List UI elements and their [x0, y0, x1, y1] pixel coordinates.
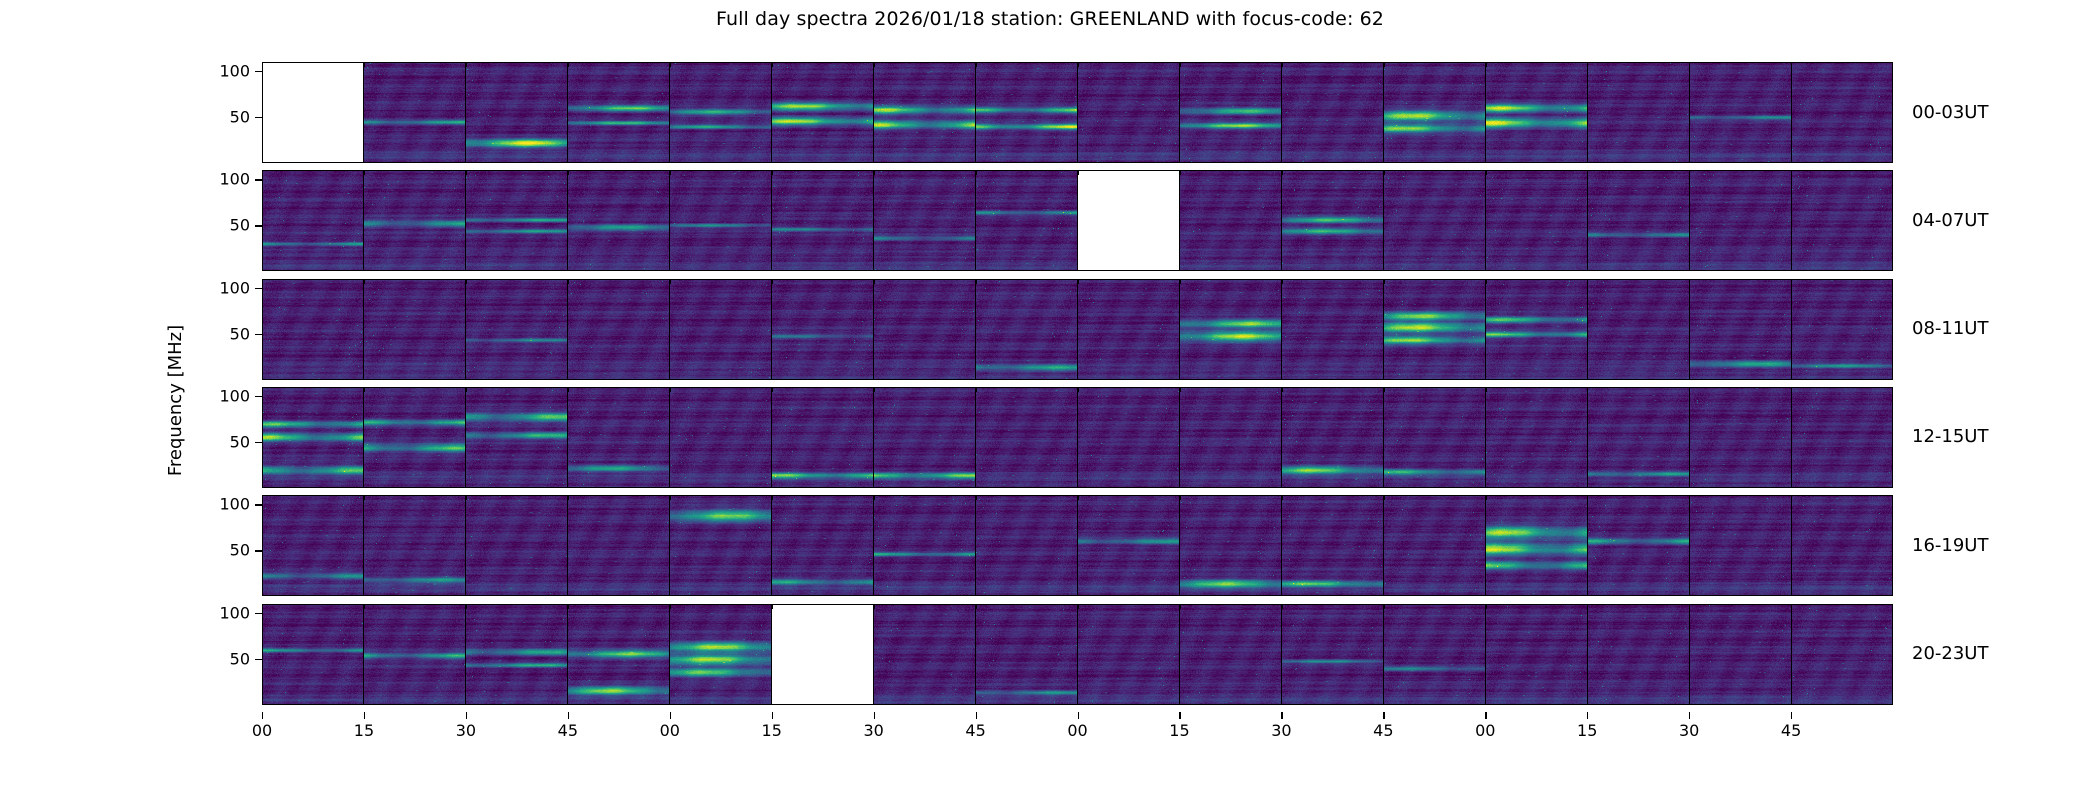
panel-tick: [1485, 495, 1486, 500]
spectrogram-image: [1180, 604, 1281, 705]
spectrogram-image: [466, 387, 567, 488]
panel-tick: [1689, 495, 1690, 500]
spectrogram-panel: [568, 387, 670, 488]
x-tick-mark: [1078, 712, 1079, 719]
panel-tick: [670, 604, 671, 609]
spectrogram-panel: [568, 62, 670, 163]
panel-tick: [364, 387, 365, 392]
spectrogram-image: [1588, 604, 1689, 705]
page-title: Full day spectra 2026/01/18 station: GRE…: [0, 8, 2100, 30]
spectrogram-image: [670, 604, 771, 705]
spectrogram-image: [1690, 62, 1791, 163]
spectrogram-panel: [466, 62, 568, 163]
y-tick-mark: [255, 117, 262, 118]
panel-tick: [466, 170, 467, 175]
spectrogram-panel: [1690, 62, 1792, 163]
spectrogram-panel: [874, 279, 976, 380]
spectrogram-image: [1588, 279, 1689, 380]
spectrogram-image: [1282, 495, 1383, 596]
spectrogram-panel: [874, 604, 976, 705]
spectrogram-panel: [874, 170, 976, 271]
spectrogram-image: [1384, 279, 1485, 380]
spectrogram-panel: [1282, 604, 1384, 705]
spectrogram-panel: [1180, 279, 1282, 380]
spectrogram-panel-blank: [262, 62, 364, 163]
panel-tick: [1485, 62, 1486, 67]
spectrogram-image: [1384, 604, 1485, 705]
spectrogram-panel: [364, 387, 466, 488]
y-tick-label: 100: [192, 278, 250, 297]
spectrogram-image: [874, 62, 975, 163]
panel-tick: [1587, 495, 1588, 500]
panel-tick: [1791, 279, 1792, 284]
x-tick-mark: [1179, 712, 1180, 719]
spectrogram-row: [262, 495, 1893, 596]
spectrogram-image: [1690, 495, 1791, 596]
panel-tick: [1485, 170, 1486, 175]
panel-tick: [364, 495, 365, 500]
spectrogram-image: [1180, 387, 1281, 488]
y-tick-label: 50: [192, 216, 250, 235]
spectrogram-image: [670, 170, 771, 271]
spectrogram-panel: [772, 279, 874, 380]
spectrogram-panel: [772, 495, 874, 596]
spectrogram-panel: [976, 495, 1078, 596]
panel-tick: [1791, 170, 1792, 175]
spectrogram-panel: [1384, 279, 1486, 380]
x-tick-label: 15: [1169, 721, 1189, 740]
row-time-label: 16-19UT: [1912, 535, 1988, 556]
panel-tick: [568, 62, 569, 67]
x-tick-mark: [568, 712, 569, 719]
x-tick-label: 45: [965, 721, 985, 740]
spectrogram-panel: [1282, 170, 1384, 271]
spectrogram-image: [1180, 279, 1281, 380]
spectrogram-panel: [466, 495, 568, 596]
panel-tick: [1078, 62, 1079, 67]
y-tick-label: 50: [192, 649, 250, 668]
spectrogram-panel: [1078, 495, 1180, 596]
spectrogram-image: [364, 279, 465, 380]
x-axis: 00153045001530450015304500153045: [262, 712, 1893, 752]
spectrogram-image: [1282, 62, 1383, 163]
spectrogram-image: [874, 170, 975, 271]
spectrogram-image: [1792, 495, 1893, 596]
spectrogram-panel: [1384, 170, 1486, 271]
spectrogram-image: [1486, 495, 1587, 596]
spectrogram-row: [262, 279, 1893, 380]
panel-tick: [976, 279, 977, 284]
spectrogram-panel: [466, 279, 568, 380]
row-time-label: 00-03UT: [1912, 102, 1988, 123]
spectrogram-image: [568, 279, 669, 380]
spectrogram-panel: [568, 495, 670, 596]
y-tick-mark: [255, 288, 262, 289]
panel-tick: [1281, 62, 1282, 67]
spectrogram-panel: [1282, 495, 1384, 596]
spectrogram-row: [262, 387, 1893, 488]
panel-tick: [874, 387, 875, 392]
spectrogram-image: [1792, 604, 1893, 705]
panel-tick: [466, 604, 467, 609]
spectrogram-panel: [1792, 387, 1893, 488]
spectrogram-image: [1180, 170, 1281, 271]
spectrogram-image: [364, 495, 465, 596]
spectrogram-image: [466, 170, 567, 271]
spectrogram-panel: [874, 387, 976, 488]
spectrogram-image: [1486, 170, 1587, 271]
spectrogram-image: [874, 495, 975, 596]
spectrogram-image: [1282, 387, 1383, 488]
x-tick-label: 15: [354, 721, 374, 740]
spectrogram-row: [262, 62, 1893, 163]
spectrogram-image: [568, 387, 669, 488]
spectrogram-image: [670, 387, 771, 488]
spectrogram-image: [976, 62, 1077, 163]
panel-tick: [1078, 170, 1079, 175]
panel-tick: [364, 604, 365, 609]
spectrogram-panel: [262, 279, 364, 380]
spectrogram-image: [1588, 387, 1689, 488]
spectrogram-image: [1690, 279, 1791, 380]
panel-tick: [1791, 495, 1792, 500]
spectrogram-panel-blank: [1078, 170, 1180, 271]
spectrogram-panel: [976, 387, 1078, 488]
panel-tick: [1179, 279, 1180, 284]
spectrogram-image: [1690, 170, 1791, 271]
panel-tick: [976, 62, 977, 67]
spectrogram-image: [262, 604, 363, 705]
panel-tick: [1281, 387, 1282, 392]
spectrogram-panel: [670, 170, 772, 271]
spectrogram-image: [1690, 604, 1791, 705]
spectrogram-panel: [1486, 387, 1588, 488]
spectrogram-panel: [1690, 170, 1792, 271]
spectrogram-panel: [1792, 279, 1893, 380]
spectrogram-image: [568, 495, 669, 596]
panel-tick: [976, 170, 977, 175]
spectrogram-panel: [1180, 604, 1282, 705]
spectrogram-image: [1792, 62, 1893, 163]
spectrogram-panel: [1792, 604, 1893, 705]
spectrogram-image: [1486, 62, 1587, 163]
y-tick-mark: [255, 225, 262, 226]
spectrogram-image: [1282, 604, 1383, 705]
spectrogram-image: [568, 170, 669, 271]
spectrogram-panel: [364, 495, 466, 596]
spectrogram-panel: [364, 62, 466, 163]
panel-tick: [466, 62, 467, 67]
spectrogram-image: [1588, 170, 1689, 271]
panel-tick: [1587, 604, 1588, 609]
spectrogram-image: [1486, 279, 1587, 380]
panel-tick: [1281, 279, 1282, 284]
y-tick-mark: [255, 504, 262, 505]
spectrogram-image: [976, 604, 1077, 705]
spectrogram-panel: [1078, 279, 1180, 380]
spectrogram-panel: [1078, 604, 1180, 705]
y-tick-mark: [255, 613, 262, 614]
panel-tick: [670, 170, 671, 175]
spectrogram-panel: [1486, 604, 1588, 705]
panel-tick: [670, 62, 671, 67]
spectrogram-panel: [466, 387, 568, 488]
spectrogram-panel: [364, 604, 466, 705]
panel-tick: [976, 495, 977, 500]
spectrogram-image: [976, 387, 1077, 488]
spectrogram-panel: [1486, 170, 1588, 271]
panel-tick: [1281, 604, 1282, 609]
panel-tick: [874, 62, 875, 67]
y-tick-mark: [255, 334, 262, 335]
row-time-label: 04-07UT: [1912, 210, 1988, 231]
panel-tick: [1383, 387, 1384, 392]
panel-tick: [772, 495, 773, 500]
y-tick-label: 100: [192, 495, 250, 514]
spectrogram-panel: [670, 495, 772, 596]
spectrogram-image: [1588, 495, 1689, 596]
y-axis-label: Frequency [MHz]: [163, 0, 189, 800]
y-tick-label: 100: [192, 62, 250, 81]
x-tick-label: 30: [456, 721, 476, 740]
spectrogram-image: [466, 604, 567, 705]
panel-tick: [1383, 170, 1384, 175]
x-tick-label: 45: [558, 721, 578, 740]
spectrogram-image: [1384, 387, 1485, 488]
spectrogram-panel: [1690, 279, 1792, 380]
spectrogram-panel-strip: [262, 279, 1893, 380]
spectrogram-image: [1384, 62, 1485, 163]
panel-tick: [1179, 604, 1180, 609]
panel-tick: [874, 495, 875, 500]
panel-tick: [568, 279, 569, 284]
spectrogram-panel-strip: [262, 604, 1893, 705]
panel-tick: [670, 495, 671, 500]
panel-tick: [1689, 604, 1690, 609]
spectrogram-panel: [1588, 170, 1690, 271]
spectrogram-panel-strip: [262, 170, 1893, 271]
spectrogram-panel: [1078, 62, 1180, 163]
spectrogram-image: [1486, 387, 1587, 488]
panel-tick: [364, 279, 365, 284]
panel-tick: [874, 279, 875, 284]
panel-tick: [772, 62, 773, 67]
spectrogram-panel: [976, 604, 1078, 705]
panel-tick: [1383, 604, 1384, 609]
spectrogram-image: [1078, 604, 1179, 705]
spectrogram-panel: [568, 279, 670, 380]
panel-tick: [1689, 279, 1690, 284]
x-tick-mark: [874, 712, 875, 719]
panel-tick: [1383, 279, 1384, 284]
spectrogram-image: [874, 279, 975, 380]
spectrogram-image: [1282, 279, 1383, 380]
spectrogram-image: [262, 279, 363, 380]
panel-tick: [364, 170, 365, 175]
spectrogram-panel-strip: [262, 495, 1893, 596]
spectrogram-image: [1588, 62, 1689, 163]
spectrogram-image: [262, 495, 363, 596]
spectrogram-panel: [772, 170, 874, 271]
panel-tick: [1179, 170, 1180, 175]
spectrogram-panel: [1282, 62, 1384, 163]
spectrogram-image: [568, 62, 669, 163]
spectrogram-panel: [670, 387, 772, 488]
x-tick-label: 15: [1577, 721, 1597, 740]
panel-tick: [772, 279, 773, 284]
spectrogram-image: [1690, 387, 1791, 488]
spectrogram-panel: [1180, 170, 1282, 271]
x-tick-mark: [262, 712, 263, 719]
panel-tick: [568, 495, 569, 500]
x-tick-mark: [670, 712, 671, 719]
spectrogram-image: [1078, 62, 1179, 163]
panel-tick: [874, 604, 875, 609]
spectrogram-panel: [670, 604, 772, 705]
y-tick-label: 100: [192, 387, 250, 406]
spectrogram-panel: [772, 387, 874, 488]
panel-tick: [1485, 279, 1486, 284]
panel-tick: [1383, 495, 1384, 500]
spectrogram-image: [670, 62, 771, 163]
panel-tick: [670, 279, 671, 284]
y-tick-mark: [255, 442, 262, 443]
panel-tick: [1078, 495, 1079, 500]
spectrogram-image: [976, 279, 1077, 380]
spectrogram-panel: [1180, 387, 1282, 488]
spectrogram-panel: [1588, 387, 1690, 488]
spectrogram-image: [976, 170, 1077, 271]
spectrogram-image: [670, 495, 771, 596]
y-tick-mark: [255, 71, 262, 72]
panel-tick: [1383, 62, 1384, 67]
spectrogram-panel: [976, 279, 1078, 380]
panel-tick: [466, 279, 467, 284]
y-tick-label: 100: [192, 603, 250, 622]
panel-tick: [1689, 387, 1690, 392]
row-time-label: 20-23UT: [1912, 643, 1988, 664]
spectrogram-image: [1792, 279, 1893, 380]
spectrogram-panel: [1180, 495, 1282, 596]
spectrogram-image: [772, 62, 873, 163]
x-tick-label: 00: [1067, 721, 1087, 740]
y-tick-mark: [255, 179, 262, 180]
panel-tick: [1587, 387, 1588, 392]
panel-tick: [1689, 170, 1690, 175]
panel-tick: [466, 387, 467, 392]
spectrogram-panel: [1588, 604, 1690, 705]
spectrogram-image: [1384, 170, 1485, 271]
spectrogram-image: [1486, 604, 1587, 705]
y-tick-label: 100: [192, 170, 250, 189]
panel-tick: [1485, 387, 1486, 392]
panel-tick: [1587, 279, 1588, 284]
panel-tick: [568, 170, 569, 175]
x-tick-label: 30: [863, 721, 883, 740]
spectrogram-image: [1180, 495, 1281, 596]
y-tick-label: 50: [192, 108, 250, 127]
x-tick-mark: [1689, 712, 1690, 719]
x-tick-label: 30: [1271, 721, 1291, 740]
spectrogram-figure: Full day spectra 2026/01/18 station: GRE…: [0, 0, 2100, 800]
spectrogram-panel: [1384, 495, 1486, 596]
x-tick-mark: [466, 712, 467, 719]
x-tick-mark: [1587, 712, 1588, 719]
spectrogram-row: [262, 604, 1893, 705]
x-tick-mark: [364, 712, 365, 719]
spectrogram-panel-strip: [262, 387, 1893, 488]
spectrogram-panel: [1282, 387, 1384, 488]
panel-tick: [772, 387, 773, 392]
spectrogram-panel: [1486, 495, 1588, 596]
spectrogram-image: [364, 170, 465, 271]
x-tick-mark: [1791, 712, 1792, 719]
panel-tick: [364, 62, 365, 67]
spectrogram-panel: [1486, 279, 1588, 380]
spectrogram-image: [1078, 495, 1179, 596]
row-time-label: 08-11UT: [1912, 318, 1988, 339]
spectrogram-image: [466, 495, 567, 596]
x-tick-label: 00: [1475, 721, 1495, 740]
spectrogram-panel: [1792, 170, 1893, 271]
y-tick-label: 50: [192, 541, 250, 560]
row-time-label: 12-15UT: [1912, 426, 1988, 447]
panel-tick: [1281, 170, 1282, 175]
x-tick-label: 30: [1679, 721, 1699, 740]
spectrogram-panel: [772, 62, 874, 163]
spectrogram-panel: [1180, 62, 1282, 163]
spectrogram-image: [772, 279, 873, 380]
panel-tick: [1791, 387, 1792, 392]
panel-tick: [1587, 170, 1588, 175]
spectrogram-image: [874, 387, 975, 488]
spectrogram-panel: [1588, 279, 1690, 380]
x-tick-label: 00: [252, 721, 272, 740]
spectrogram-panel: [1282, 279, 1384, 380]
y-tick-mark: [255, 550, 262, 551]
spectrogram-image: [364, 387, 465, 488]
x-tick-mark: [1383, 712, 1384, 719]
panel-tick: [772, 170, 773, 175]
panel-tick: [976, 604, 977, 609]
panel-tick: [1791, 62, 1792, 67]
y-tick-label: 50: [192, 432, 250, 451]
panel-tick: [1689, 62, 1690, 67]
spectrogram-panel: [1588, 62, 1690, 163]
spectrogram-panel: [262, 170, 364, 271]
spectrogram-image: [262, 387, 363, 488]
spectrogram-panel: [874, 62, 976, 163]
spectrogram-panel: [1690, 495, 1792, 596]
spectrogram-panel: [262, 387, 364, 488]
spectrogram-panel: [466, 170, 568, 271]
spectrogram-panel: [976, 170, 1078, 271]
x-tick-mark: [1485, 712, 1486, 719]
y-tick-label: 50: [192, 324, 250, 343]
panel-tick: [1587, 62, 1588, 67]
spectrogram-panel: [1690, 387, 1792, 488]
panel-tick: [1078, 387, 1079, 392]
spectrogram-panel: [976, 62, 1078, 163]
panel-tick: [976, 387, 977, 392]
spectrogram-image: [1078, 279, 1179, 380]
spectrogram-panel: [874, 495, 976, 596]
spectrogram-image: [772, 387, 873, 488]
spectrogram-image: [1078, 387, 1179, 488]
x-tick-label: 15: [762, 721, 782, 740]
spectrogram-panel: [1078, 387, 1180, 488]
spectrogram-image: [364, 604, 465, 705]
